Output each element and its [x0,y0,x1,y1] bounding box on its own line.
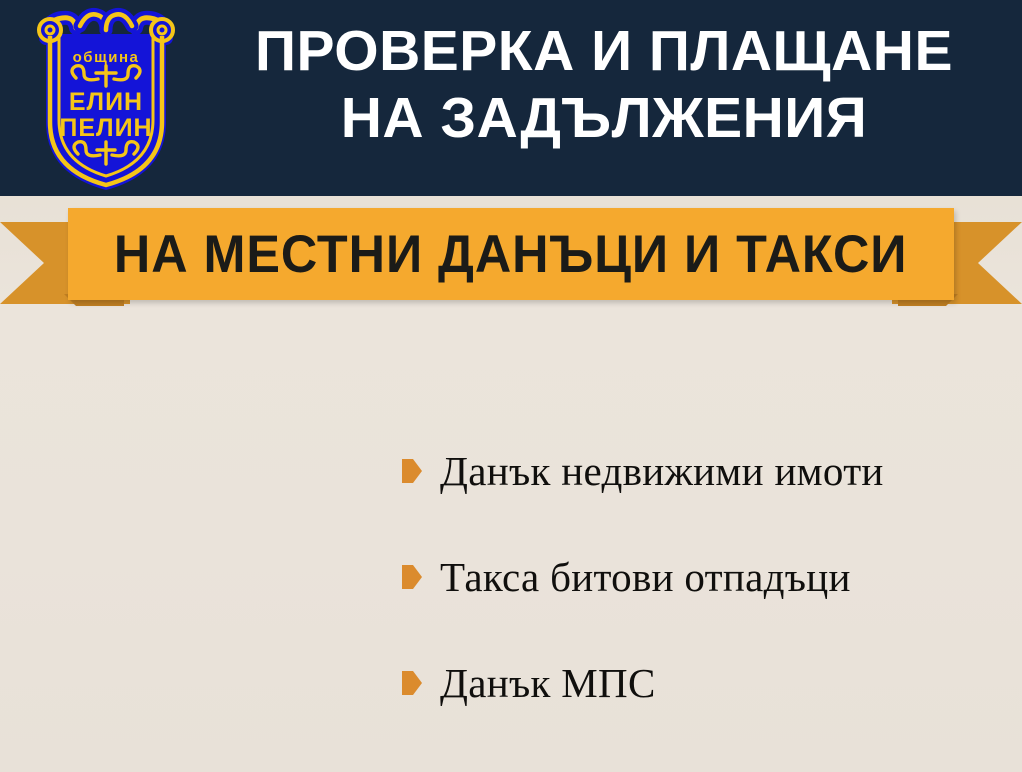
ribbon-band: НА МЕСТНИ ДАНЪЦИ И ТАКСИ [68,208,954,300]
arrow-bullet-icon [402,671,422,695]
ribbon-banner: НА МЕСТНИ ДАНЪЦИ И ТАКСИ [0,200,1022,310]
list-item[interactable]: Такса битови отпадъци [402,524,1012,630]
list-item-label: Данък недвижими имоти [440,447,884,495]
logo-line-1: ЕЛИН [69,88,143,116]
page-title: ПРОВЕРКА И ПЛАЩАНЕ НА ЗАДЪЛЖЕНИЯ [196,18,1012,153]
logo-obshtina-label: община [73,49,140,66]
house-icon [75,372,203,488]
page-title-line-2: НА ЗАДЪЛЖЕНИЯ [196,85,1012,152]
arrow-bullet-icon [402,459,422,483]
list-item-label: Такса битови отпадъци [440,553,851,601]
coat-of-arms-icon: община ЕЛИН ПЕЛИН [18,4,194,194]
logo-line-2: ПЕЛИН [59,114,152,142]
list-item[interactable]: Данък недвижими имоти [402,418,1012,524]
poster-canvas: община ЕЛИН ПЕЛИН ПРОВЕРКА И ПЛАЩАНЕ НА … [0,0,1022,772]
car-front-icon [147,586,300,728]
ribbon-label: НА МЕСТНИ ДАНЪЦИ И ТАКСИ [114,224,908,285]
list-item-label: Данък МПС [440,659,656,707]
page-title-line-1: ПРОВЕРКА И ПЛАЩАНЕ [196,18,1012,85]
list-item[interactable]: Данък МПС [402,630,1012,736]
municipality-logo: община ЕЛИН ПЕЛИН [18,4,194,194]
arrow-bullet-icon [402,565,422,589]
tax-types-list: Данък недвижими имоти Такса битови отпад… [402,418,1012,736]
